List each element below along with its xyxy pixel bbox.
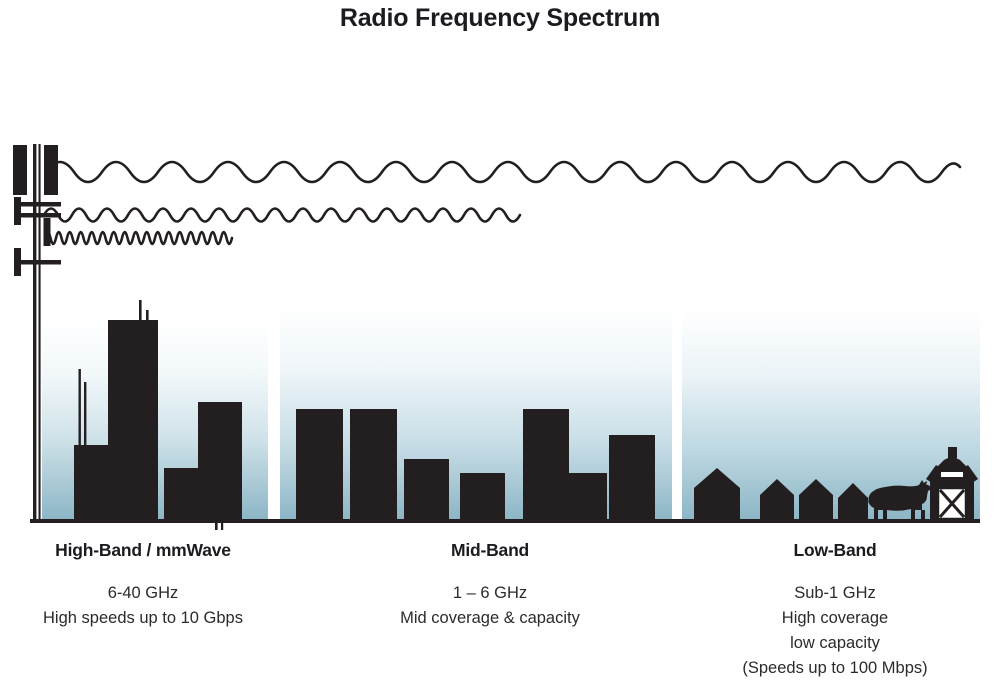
radio-waves	[44, 162, 960, 244]
ground-line	[30, 519, 980, 523]
band-desc-line-high-0: High speeds up to 10 Gbps	[8, 606, 278, 631]
town-block-6	[569, 473, 607, 519]
band-column-low: Low-Band Sub-1 GHz High coverage low cap…	[690, 540, 980, 681]
town-block-7	[609, 435, 655, 519]
town-block-5	[523, 409, 569, 519]
tower-antenna-panel-3	[14, 197, 21, 225]
band-frequency-mid: 1 – 6 GHz	[350, 581, 630, 606]
tower-mast-left	[33, 144, 36, 520]
band-desc-line-low-1: low capacity	[690, 631, 980, 656]
tower-antenna-panel-4	[44, 218, 51, 246]
band-column-mid: Mid-Band 1 – 6 GHz Mid coverage & capaci…	[350, 540, 630, 631]
town-block-4	[460, 473, 505, 519]
infographic-root: Radio Frequency Spectrum	[0, 0, 1000, 700]
band-title-high: High-Band / mmWave	[8, 540, 278, 561]
short-wavelength-wave	[45, 232, 232, 244]
town-block-1	[296, 409, 343, 519]
band-labels: High-Band / mmWave 6-40 GHz High speeds …	[0, 540, 1000, 700]
tower-crossbar-3	[14, 260, 61, 265]
band-desc-high: 6-40 GHz High speeds up to 10 Gbps	[8, 581, 278, 631]
building-spire-1	[79, 369, 81, 445]
medium-wavelength-wave	[44, 209, 520, 222]
town-block-2	[350, 409, 397, 519]
tower-antenna-panel-1	[13, 145, 27, 195]
barn-hayloft-window	[941, 472, 963, 477]
barn-cupola	[948, 447, 957, 458]
band-desc-mid: 1 – 6 GHz Mid coverage & capacity	[350, 581, 630, 631]
long-wavelength-wave	[46, 162, 960, 182]
band-frequency-high: 6-40 GHz	[8, 581, 278, 606]
band-frequency-low: Sub-1 GHz	[690, 581, 980, 606]
band-column-high: High-Band / mmWave 6-40 GHz High speeds …	[8, 540, 278, 631]
tower-mast-right	[39, 144, 41, 520]
band-desc-low: Sub-1 GHz High coverage low capacity (Sp…	[690, 581, 980, 681]
town-block-3	[404, 459, 449, 519]
spectrum-scene	[0, 120, 1000, 530]
tower-crossbar-2	[14, 213, 61, 218]
tower-antenna-panel-5	[14, 248, 21, 276]
scene-svg	[0, 120, 1000, 530]
tower-crossbar-1	[14, 202, 61, 207]
building-block-right	[198, 402, 242, 519]
band-title-mid: Mid-Band	[350, 540, 630, 561]
tower-antenna-panel-2	[44, 145, 58, 195]
building-block-tall	[108, 320, 158, 519]
band-title-low: Low-Band	[690, 540, 980, 561]
band-desc-line-low-0: High coverage	[690, 606, 980, 631]
band-desc-line-mid-0: Mid coverage & capacity	[350, 606, 630, 631]
page-title: Radio Frequency Spectrum	[0, 4, 1000, 33]
building-spire-2	[84, 382, 86, 445]
band-desc-line-low-2: (Speeds up to 100 Mbps)	[690, 656, 980, 681]
